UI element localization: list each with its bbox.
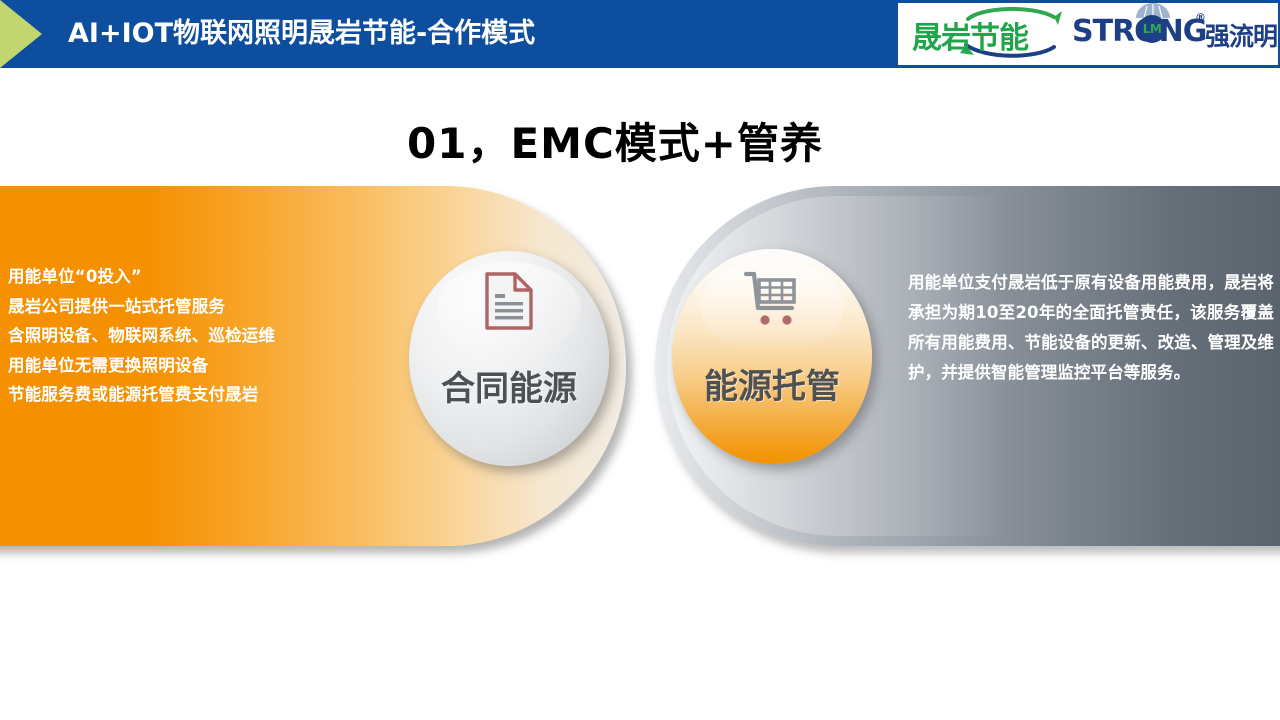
- slide-title: 01，EMC模式+管养: [0, 110, 1230, 171]
- circle-contract-energy[interactable]: 合同能源: [409, 251, 609, 466]
- logo-tagline: 强流明照明: [1205, 17, 1278, 53]
- circle-label-energy-hosting: 能源托管: [672, 359, 872, 408]
- company-logo: 晟岩节能 STRONG LM ® 强流明照明: [898, 3, 1278, 65]
- logo-lm-text: LM: [1143, 22, 1162, 36]
- left-text-line-4: 用能单位无需更换照明设备: [8, 351, 428, 381]
- left-text-line-1: 用能单位“0投入”: [8, 262, 428, 292]
- left-text-line-2: 晟岩公司提供一站式托管服务: [8, 292, 428, 322]
- left-panel-text: 用能单位“0投入” 晟岩公司提供一站式托管服务 含照明设备、物联网系统、巡检运维…: [8, 262, 428, 410]
- chevron-accent-icon: [0, 0, 42, 68]
- left-text-line-5: 节能服务费或能源托管费支付晟岩: [8, 380, 428, 410]
- logo-lm-mark: LM: [1138, 15, 1166, 43]
- header-title: AI+IOT物联网照明晟岩节能-合作模式: [68, 12, 535, 56]
- circle-energy-hosting[interactable]: 能源托管: [672, 249, 872, 464]
- registered-mark: ®: [1195, 11, 1206, 24]
- left-text-line-3: 含照明设备、物联网系统、巡检运维: [8, 321, 428, 351]
- shopping-cart-icon: [672, 270, 872, 328]
- document-icon: [409, 272, 609, 330]
- circle-label-contract-energy: 合同能源: [409, 361, 609, 410]
- logo-brand-cn: 晟岩节能: [912, 13, 1028, 57]
- right-panel-text: 用能单位支付晟岩低于原有设备用能费用，晟岩将承担为期10至20年的全面托管责任，…: [908, 268, 1274, 388]
